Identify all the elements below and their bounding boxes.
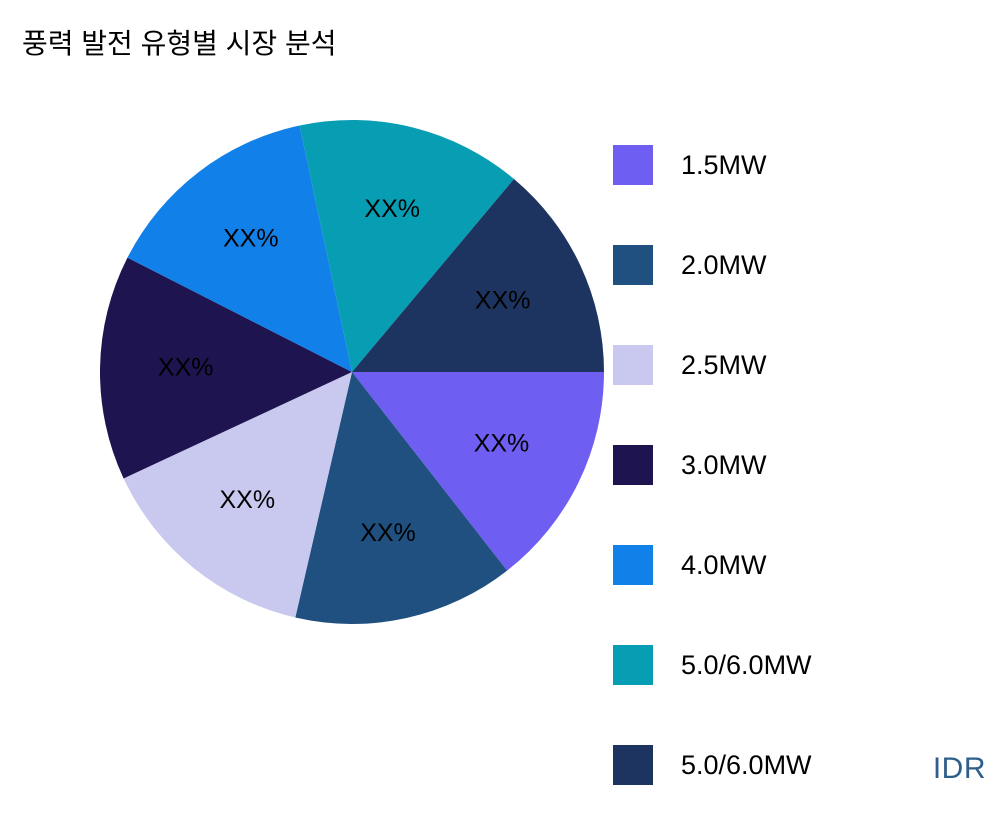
- legend-color-swatch: [613, 545, 653, 585]
- pie-chart-area: XX%XX%XX%XX%XX%XX%XX%: [0, 0, 620, 800]
- legend-item[interactable]: 4.0MW: [613, 515, 1000, 615]
- pie-slice-percent-label: XX%: [158, 354, 214, 382]
- legend-color-swatch: [613, 145, 653, 185]
- pie-slice-percent-label: XX%: [220, 486, 276, 514]
- legend-item[interactable]: 2.0MW: [613, 215, 1000, 315]
- legend-item-label: 2.0MW: [681, 250, 767, 281]
- watermark: IDR: [933, 752, 986, 786]
- legend-item-label: 4.0MW: [681, 550, 767, 581]
- pie-slice-percent-label: XX%: [364, 195, 420, 223]
- legend-item[interactable]: 2.5MW: [613, 315, 1000, 415]
- pie-slice-percent-label: XX%: [474, 430, 530, 458]
- legend-color-swatch: [613, 245, 653, 285]
- legend-item-label: 2.5MW: [681, 350, 767, 381]
- legend-color-swatch: [613, 745, 653, 785]
- legend-item[interactable]: 1.5MW: [613, 115, 1000, 215]
- legend-item-label: 5.0/6.0MW: [681, 750, 812, 781]
- pie-slice-percent-label: XX%: [223, 225, 279, 253]
- legend-color-swatch: [613, 445, 653, 485]
- legend-color-swatch: [613, 645, 653, 685]
- pie-slice-percent-label: XX%: [475, 286, 531, 314]
- pie-slice-percent-label: XX%: [360, 519, 416, 547]
- legend-item-label: 1.5MW: [681, 150, 767, 181]
- legend: 1.5MW2.0MW2.5MW3.0MW4.0MW5.0/6.0MW5.0/6.…: [613, 115, 1000, 815]
- legend-color-swatch: [613, 345, 653, 385]
- pie-chart: XX%XX%XX%XX%XX%XX%XX%: [88, 108, 616, 636]
- legend-item[interactable]: 3.0MW: [613, 415, 1000, 515]
- legend-item[interactable]: 5.0/6.0MW: [613, 615, 1000, 715]
- legend-item-label: 5.0/6.0MW: [681, 650, 812, 681]
- legend-item-label: 3.0MW: [681, 450, 767, 481]
